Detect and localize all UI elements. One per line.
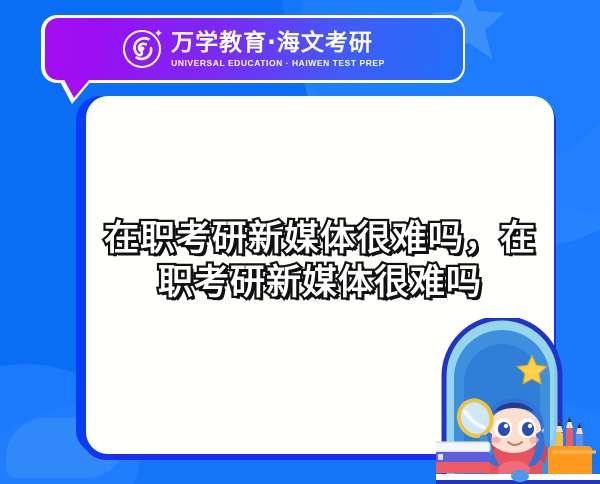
poster-canvas: ✦ 万学教育·海文考研 UNIVERSAL EDUCATION · HAIWEN… [0, 0, 600, 484]
content-card: 在职考研新媒体很难吗，在职考研新媒体很难吗 [86, 96, 554, 454]
brand-name-cn: 万学教育·海文考研 [171, 31, 385, 56]
brand-logo-row: ✦ 万学教育·海文考研 UNIVERSAL EDUCATION · HAIWEN… [45, 18, 463, 80]
brand-banner: ✦ 万学教育·海文考研 UNIVERSAL EDUCATION · HAIWEN… [45, 18, 463, 80]
brand-name-en: UNIVERSAL EDUCATION · HAIWEN TEST PREP [171, 58, 385, 68]
sparkle-icon: ✦ [154, 29, 163, 40]
content-card-inner: 在职考研新媒体很难吗，在职考研新媒体很难吗 [86, 96, 554, 454]
brand-text-block: 万学教育·海文考研 UNIVERSAL EDUCATION · HAIWEN T… [171, 31, 385, 68]
haiwen-circle-swoosh-logo-icon: ✦ [123, 30, 161, 68]
article-title: 在职考研新媒体很难吗，在职考研新媒体很难吗 [100, 217, 540, 305]
logo-swoosh-icon [128, 35, 156, 63]
